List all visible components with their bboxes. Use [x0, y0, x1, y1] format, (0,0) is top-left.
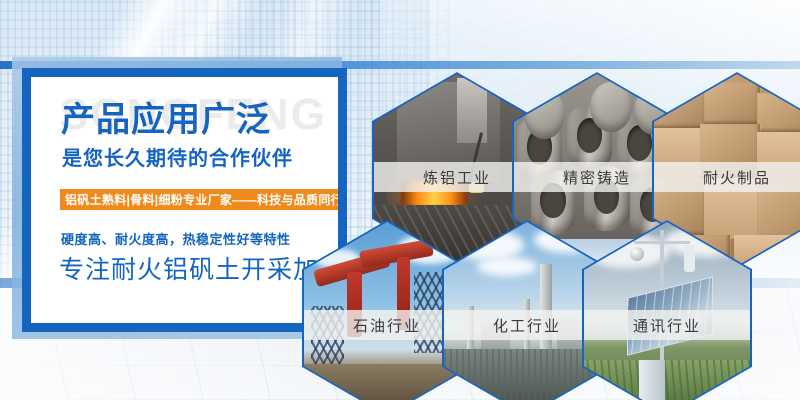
hexagon-collage: 炼铝工业 精密铸造 — [0, 0, 800, 400]
hex-label: 通讯行业 — [584, 310, 750, 340]
promotional-banner: SONGFENG 产品应用广泛 是您长久期待的合作伙伴 铝矾土熟料|骨料|细粉专… — [0, 0, 800, 400]
hex-label: 耐火制品 — [654, 162, 800, 192]
